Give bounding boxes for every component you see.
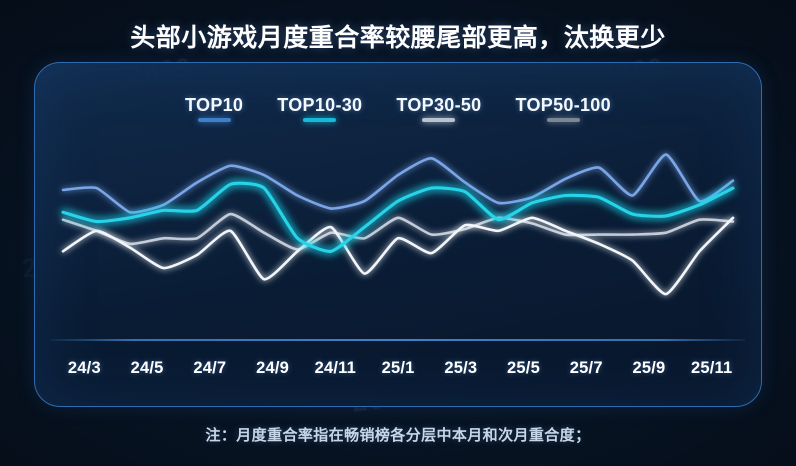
legend-swatch-top10 — [198, 118, 231, 122]
legend-swatch-top10_30 — [303, 118, 336, 122]
legend-item-top10[interactable]: TOP10 — [185, 96, 243, 122]
legend-item-top30_50[interactable]: TOP30-50 — [396, 96, 481, 122]
axis-baseline — [51, 339, 745, 341]
x-axis-tick: 24/5 — [116, 359, 179, 378]
legend-swatch-top50_100 — [547, 118, 580, 122]
chart-background: 2689 2689 2689 2689 2689 头部小游戏月度重合率较腰尾部更… — [0, 0, 796, 466]
legend-label: TOP10-30 — [277, 96, 362, 114]
line-chart-plot — [35, 141, 761, 341]
legend-swatch-top30_50 — [422, 118, 455, 122]
chart-title: 头部小游戏月度重合率较腰尾部更高，汰换更少 — [0, 18, 796, 54]
x-axis-tick: 25/3 — [429, 359, 492, 378]
legend-label: TOP30-50 — [396, 96, 481, 114]
x-axis-tick: 25/5 — [492, 359, 555, 378]
series-line-top50-100 — [63, 218, 733, 294]
x-axis-tick: 25/11 — [680, 359, 743, 378]
legend-item-top10_30[interactable]: TOP10-30 — [277, 96, 362, 122]
chart-legend: TOP10TOP10-30TOP30-50TOP50-100 — [35, 96, 761, 122]
x-axis-tick: 24/7 — [178, 359, 241, 378]
legend-label: TOP10 — [185, 96, 243, 114]
x-axis-tick: 24/9 — [241, 359, 304, 378]
x-axis-tick: 25/1 — [367, 359, 430, 378]
series-line-top30-50 — [63, 214, 733, 249]
x-axis-labels: 24/324/524/724/924/1125/125/325/525/725/… — [53, 359, 743, 378]
x-axis-tick: 25/7 — [555, 359, 618, 378]
x-axis-tick: 25/9 — [618, 359, 681, 378]
legend-label: TOP50-100 — [516, 96, 611, 114]
chart-card: TOP10TOP10-30TOP30-50TOP50-100 — [34, 62, 762, 407]
x-axis-tick: 24/3 — [53, 359, 116, 378]
series-line-top10 — [63, 155, 733, 213]
chart-footnote: 注：月度重合率指在畅销榜各分层中本月和次月重合度； — [0, 424, 796, 445]
x-axis-tick: 24/11 — [304, 359, 367, 378]
legend-item-top50_100[interactable]: TOP50-100 — [516, 96, 611, 122]
line-chart-svg — [35, 141, 761, 341]
